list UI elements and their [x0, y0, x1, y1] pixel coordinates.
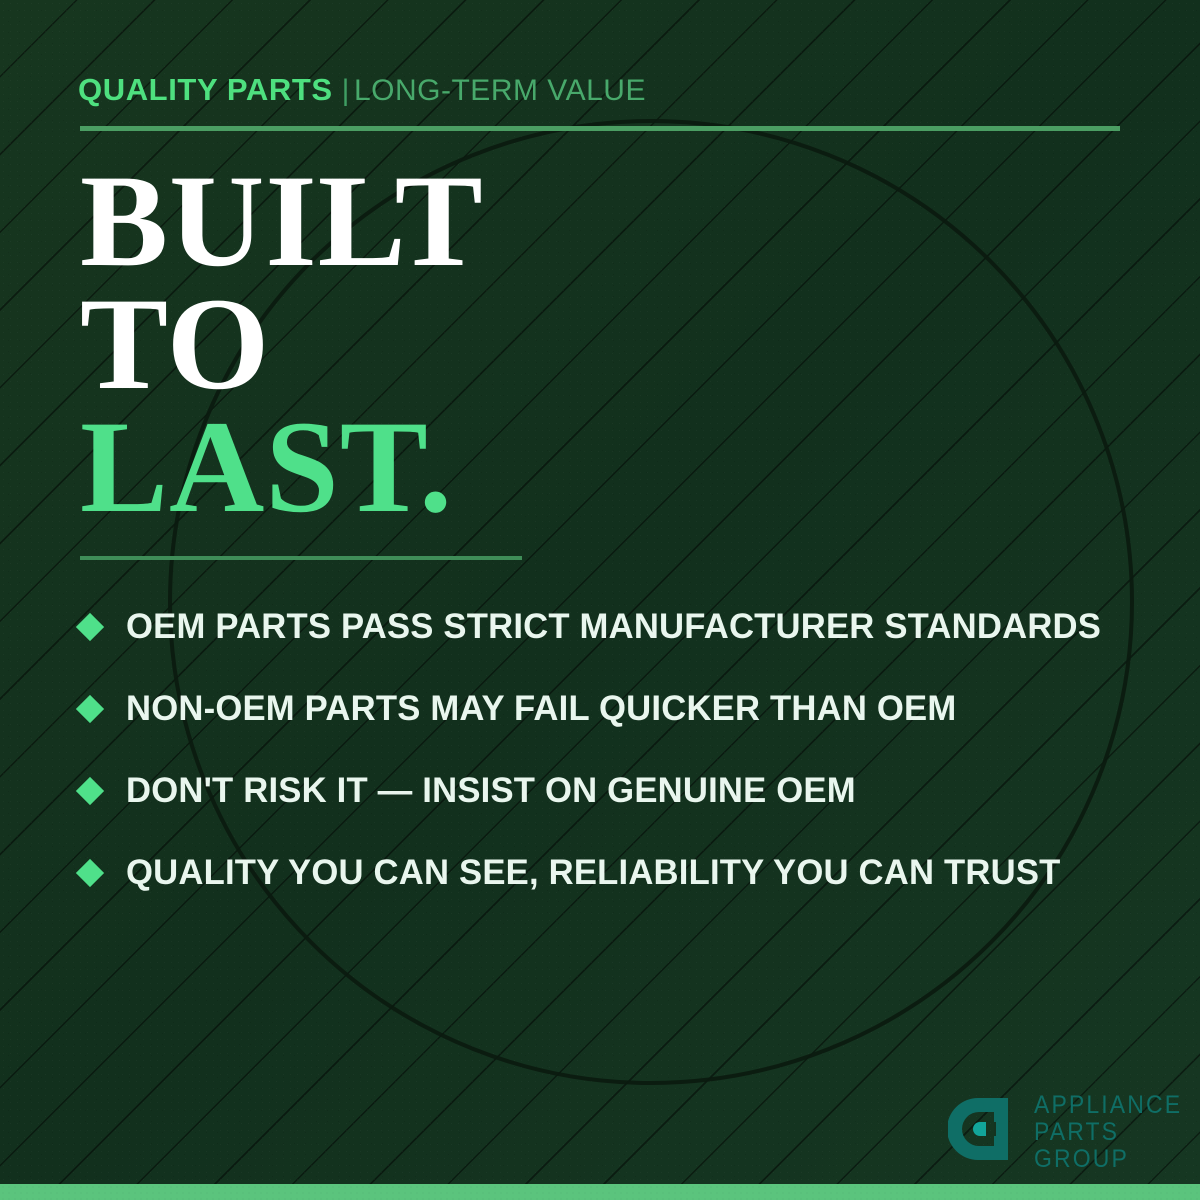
list-item: OEM PARTS PASS STRICT MANUFACTURER STAND… [80, 586, 1140, 668]
list-item-label: DON'T RISK IT — INSIST ON GENUINE OEM [126, 771, 856, 811]
diamond-bullet-icon [76, 777, 104, 805]
eyebrow-light-text: LONG-TERM VALUE [354, 74, 646, 107]
benefits-list: OEM PARTS PASS STRICT MANUFACTURER STAND… [80, 586, 1140, 914]
g-monogram-icon [948, 1092, 1022, 1166]
eyebrow-separator: | [342, 74, 350, 107]
bottom-bar-texture [0, 1184, 1200, 1200]
brand-logo-line-2: PARTS [1034, 1119, 1182, 1146]
list-item-label: QUALITY YOU CAN SEE, RELIABILITY YOU CAN… [126, 853, 1060, 893]
brand-logo-line-1: APPLIANCE [1034, 1092, 1182, 1119]
bottom-accent-bar [0, 1184, 1200, 1200]
eyebrow-strong-text: QUALITY PARTS [78, 72, 333, 107]
promo-poster: QUALITY PARTS|LONG-TERM VALUE BUILT TO L… [0, 0, 1200, 1200]
page-title: BUILT TO LAST. [80, 160, 484, 528]
poster-content: QUALITY PARTS|LONG-TERM VALUE BUILT TO L… [0, 0, 1200, 1200]
list-item-label: NON-OEM PARTS MAY FAIL QUICKER THAN OEM [126, 689, 956, 729]
headline-line-1: BUILT [80, 160, 484, 283]
list-item: DON'T RISK IT — INSIST ON GENUINE OEM [80, 750, 1140, 832]
list-item: NON-OEM PARTS MAY FAIL QUICKER THAN OEM [80, 668, 1140, 750]
diamond-bullet-icon [76, 695, 104, 723]
headline-line-2: TO [80, 283, 484, 406]
diamond-bullet-icon [76, 859, 104, 887]
top-divider-rule [80, 126, 1120, 131]
list-item: QUALITY YOU CAN SEE, RELIABILITY YOU CAN… [80, 832, 1140, 914]
brand-logo-line-3: GROUP [1034, 1146, 1182, 1173]
diamond-bullet-icon [76, 613, 104, 641]
eyebrow: QUALITY PARTS|LONG-TERM VALUE [78, 74, 646, 106]
list-item-label: OEM PARTS PASS STRICT MANUFACTURER STAND… [126, 607, 1101, 647]
secondary-divider-rule [80, 556, 522, 560]
headline-line-3: LAST. [80, 406, 484, 529]
brand-logo-wordmark: APPLIANCE PARTS GROUP [1034, 1092, 1182, 1173]
brand-logo: APPLIANCE PARTS GROUP [948, 1092, 1195, 1173]
